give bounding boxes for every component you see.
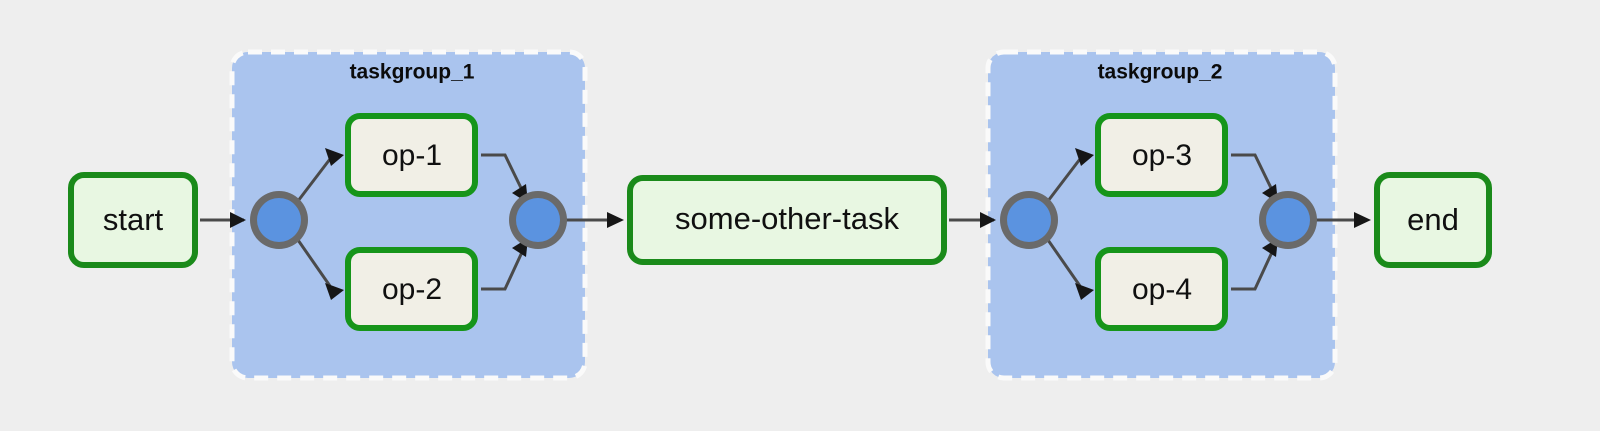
task-node-op-4[interactable]: op-4 (1098, 250, 1225, 328)
task-node-end-label: end (1407, 202, 1459, 237)
task-node-start-label: start (103, 202, 164, 237)
task-node-op-3-label: op-3 (1132, 139, 1192, 172)
dag-graph-canvas: taskgroup_1 taskgroup_2 (0, 0, 1600, 431)
dag-graph-svg: taskgroup_1 taskgroup_2 (0, 0, 1600, 431)
task-node-op-1[interactable]: op-1 (348, 116, 475, 194)
taskgroup-2-label: taskgroup_2 (1098, 61, 1223, 84)
task-node-op-1-label: op-1 (382, 139, 442, 172)
task-node-op-3[interactable]: op-3 (1098, 116, 1225, 194)
joint-taskgroup-2-exit[interactable] (1259, 191, 1317, 249)
joint-taskgroup-1-entry[interactable] (250, 191, 308, 249)
task-node-op-4-label: op-4 (1132, 273, 1192, 306)
task-node-op-2[interactable]: op-2 (348, 250, 475, 328)
joint-taskgroup-1-exit[interactable] (509, 191, 567, 249)
task-node-some-other-task-label: some-other-task (675, 201, 899, 236)
task-node-start[interactable]: start (71, 175, 195, 265)
taskgroup-1-label: taskgroup_1 (350, 61, 475, 84)
task-node-op-2-label: op-2 (382, 273, 442, 306)
joint-taskgroup-2-entry[interactable] (1000, 191, 1058, 249)
task-node-some-other-task[interactable]: some-other-task (630, 178, 944, 262)
task-node-end[interactable]: end (1377, 175, 1489, 265)
